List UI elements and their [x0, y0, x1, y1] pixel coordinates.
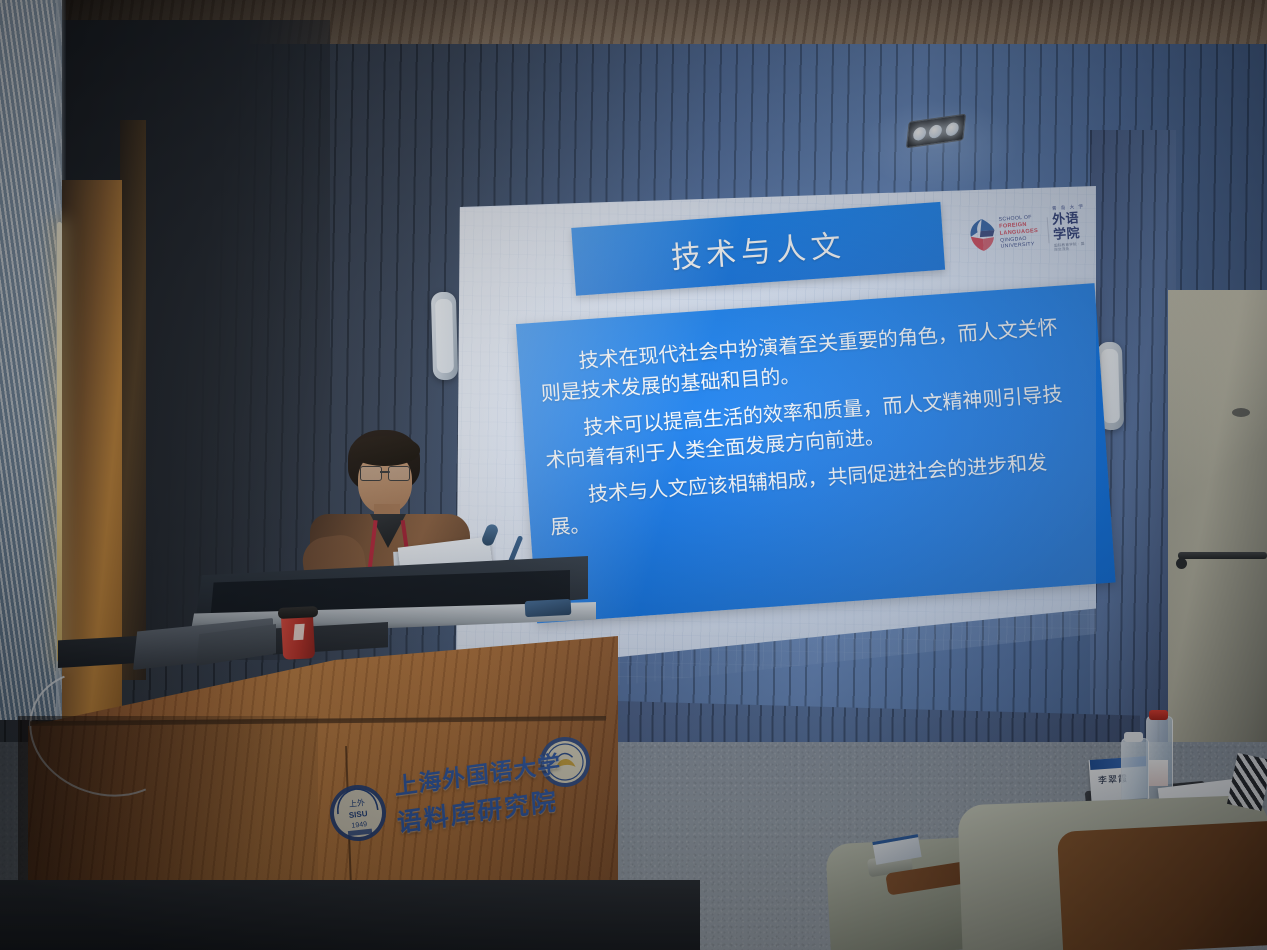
stage-front-edge [0, 880, 700, 950]
bottle-cap-white [1124, 732, 1143, 742]
lamp-icon [929, 123, 943, 138]
glasses-icon [360, 466, 410, 479]
lamp-icon [912, 126, 926, 141]
door-highlight [1168, 290, 1267, 520]
coffee-cup-logo-icon [293, 624, 304, 641]
door-knob-icon[interactable] [1176, 558, 1187, 569]
microphone-base [525, 599, 572, 617]
door-plate [1232, 408, 1250, 417]
wall-speaker-left [431, 292, 458, 381]
lamp-icon [945, 121, 959, 136]
door-push-bar[interactable] [1178, 552, 1267, 559]
bottle-label [1149, 760, 1168, 786]
presenter-fringe [350, 436, 420, 466]
coffee-cup-lid [278, 606, 319, 619]
lecture-hall-photo: 技术与人文 SCHOOL OF FOREIGN LANGUAGES QINGDA… [0, 0, 1267, 950]
svg-text:上外: 上外 [348, 797, 365, 809]
sisu-seal-icon: 上外 SISU 1949 [325, 779, 391, 847]
bottle-cap-red [1149, 710, 1168, 720]
seat-wood-back [1057, 820, 1267, 950]
